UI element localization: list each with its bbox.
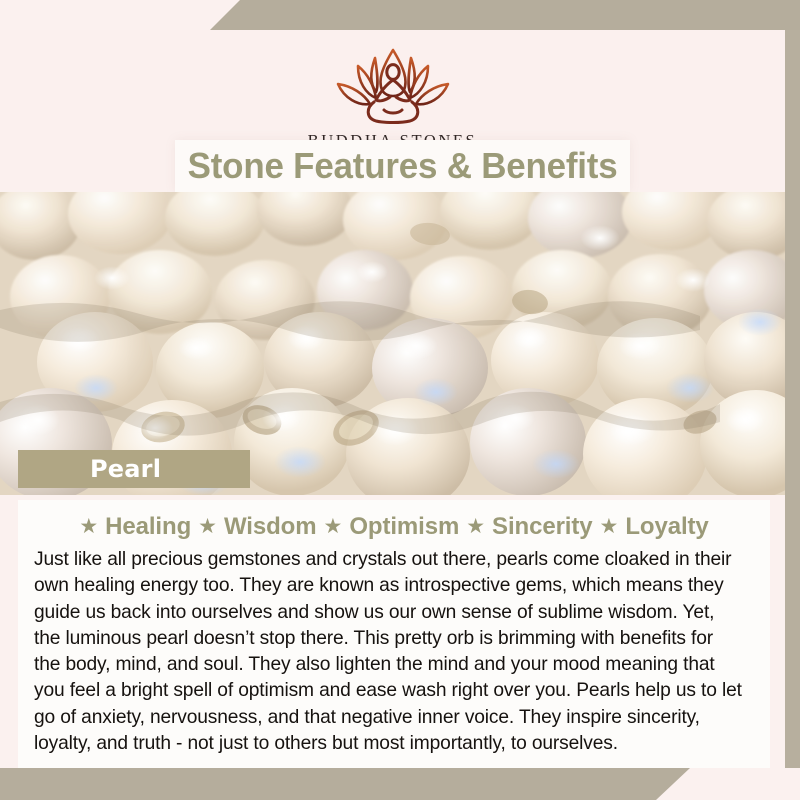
title-banner: Stone Features & Benefits — [175, 140, 630, 192]
star-icon: ★ — [198, 516, 217, 537]
top-decorative-band — [0, 0, 800, 30]
keyword-healing: Healing — [105, 513, 191, 541]
keyword-optimism: Optimism — [349, 513, 459, 541]
keyword-wisdom: Wisdom — [224, 513, 317, 541]
star-icon: ★ — [79, 516, 98, 537]
description-text: Just like all precious gemstones and cry… — [34, 546, 743, 756]
star-icon: ★ — [466, 516, 485, 537]
keyword-loyalty: Loyalty — [625, 513, 708, 541]
lotus-meditation-logo-icon — [318, 42, 468, 130]
bottom-decorative-band — [0, 768, 690, 800]
star-icon: ★ — [323, 516, 342, 537]
poster: BUDDHA STONES Stone Features & Benefits — [0, 0, 800, 800]
right-edge-strip — [785, 30, 800, 768]
star-icon: ★ — [600, 516, 619, 537]
keyword-list: ★ Healing ★ Wisdom ★ Optimism ★ Sincerit… — [34, 512, 754, 542]
keyword-sincerity: Sincerity — [492, 513, 592, 541]
photo-caption-label: Pearl — [90, 455, 161, 483]
photo-caption-bar: Pearl — [18, 450, 250, 488]
page-title: Stone Features & Benefits — [188, 145, 618, 187]
top-band-fill — [210, 0, 800, 30]
content-card: ★ Healing ★ Wisdom ★ Optimism ★ Sincerit… — [18, 500, 770, 768]
